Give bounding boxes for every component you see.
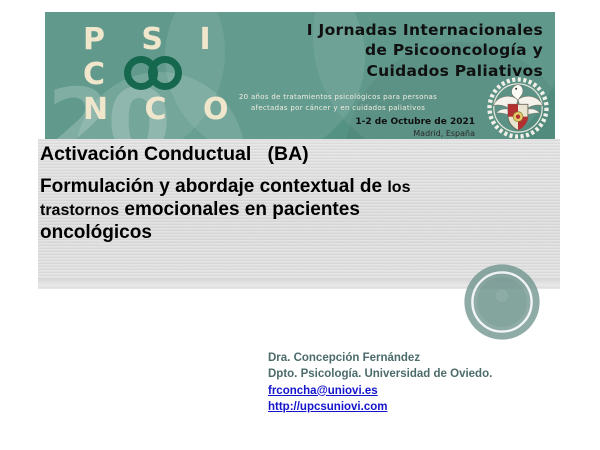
logo-text-row-1: P S I: [83, 25, 224, 55]
banner-headline: I Jornadas Internacionales de Psicooncol…: [213, 20, 543, 81]
banner-subtitle-line-1: 20 años de tratamientos psicológicos par…: [203, 92, 473, 103]
slide-title-sub-part-3: emocionales en pacientes: [119, 199, 360, 220]
banner-subtitle: 20 años de tratamientos psicológicos par…: [203, 92, 473, 113]
author-block: Dra. Concepción Fernández Dpto. Psicolog…: [268, 350, 568, 415]
slide-title-group: Activación Conductual (BA) Formulación y…: [40, 143, 470, 245]
presentation-slide: 20 P S I C N C O I Jornadas Internaciona…: [0, 0, 600, 450]
banner-subtitle-line-2: afectadas por cáncer y en cuidados palia…: [203, 103, 473, 114]
banner-city: Madrid, España: [275, 128, 475, 139]
slide-title-sub-part-4: oncológicos: [40, 222, 152, 243]
slide-title-main: Activación Conductual (BA): [40, 143, 470, 166]
watermark-seal-icon: [462, 262, 542, 342]
banner-headline-line-2: de Psicooncología y: [213, 40, 543, 60]
author-website-link[interactable]: http://upcsuniovi.com: [268, 399, 568, 415]
logo-ring-right-icon: [148, 56, 182, 90]
conference-banner: 20 P S I C N C O I Jornadas Internaciona…: [45, 12, 555, 139]
banner-headline-line-1: I Jornadas Internacionales: [213, 20, 543, 40]
author-email-link[interactable]: frconcha@uniovi.es: [268, 383, 568, 399]
slide-title-sub-part-1: Formulación y abordaje contextual de: [40, 176, 382, 197]
author-affiliation: Dpto. Psicología. Universidad de Oviedo.: [268, 366, 568, 382]
psicooncologia-logo: P S I C N C O: [63, 25, 223, 133]
author-name: Dra. Concepción Fernández: [268, 350, 568, 366]
slide-title-sub: Formulación y abordaje contextual de los…: [40, 175, 470, 245]
university-crest-icon: [487, 77, 549, 139]
logo-text-row-2: C: [83, 60, 118, 90]
